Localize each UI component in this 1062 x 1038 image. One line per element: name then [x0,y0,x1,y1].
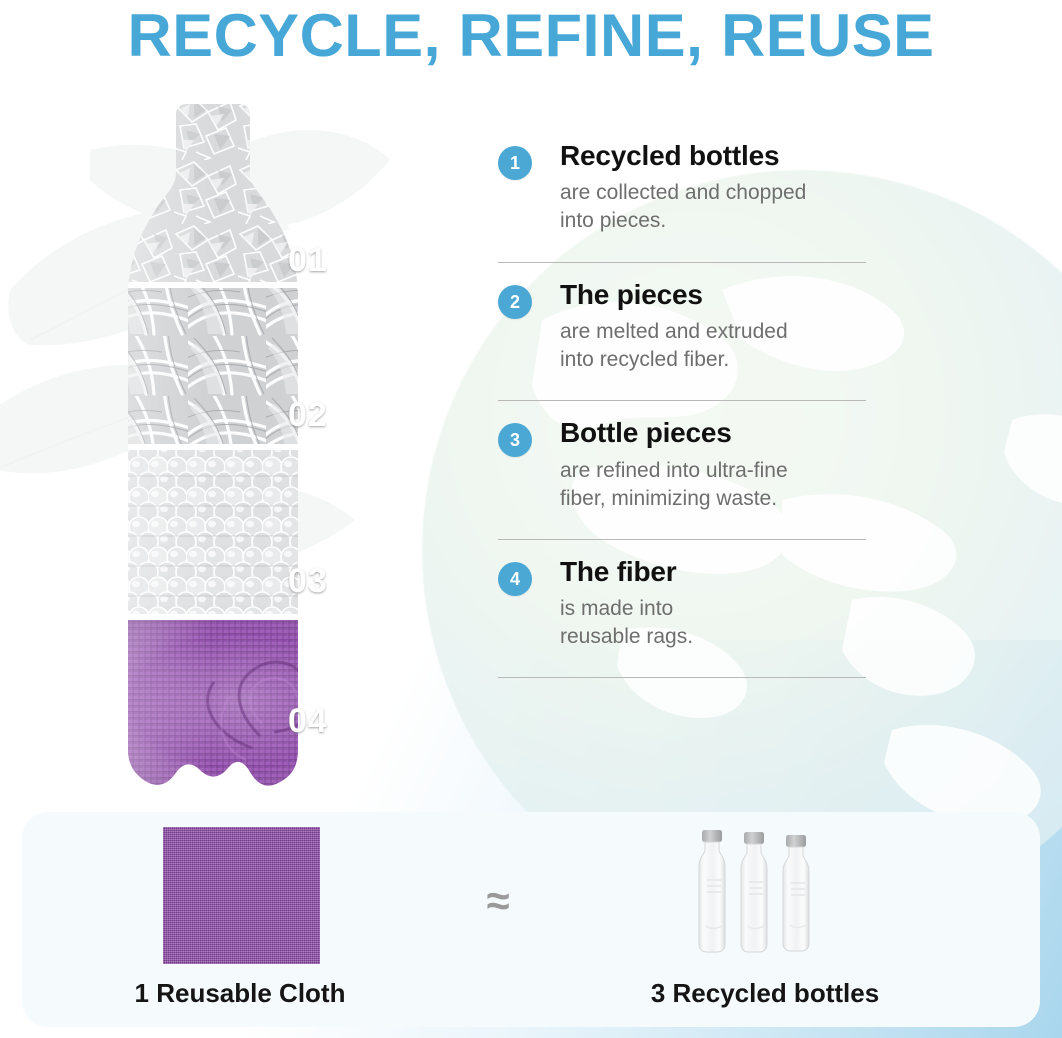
step-item-1: 1 Recycled bottles are collected and cho… [498,140,928,244]
step-divider-2 [498,400,866,401]
step-title-2: The pieces [560,279,928,310]
bottle-band-label-01: 01 [288,241,328,280]
equivalence-left-label: 1 Reusable Cloth [30,978,450,1009]
bottle-diagram: 01 02 03 04 [110,96,400,796]
step-item-4: 4 The fiber is made into reusable rags. [498,556,928,660]
page-title: RECYCLE, REFINE, REUSE [0,4,1062,67]
infographic-root: RECYCLE, REFINE, REUSE [0,0,1062,1038]
step-divider-3 [498,539,866,540]
steps-list: 1 Recycled bottles are collected and cho… [498,140,928,678]
step-item-3: 3 Bottle pieces are refined into ultra-f… [498,417,928,521]
step-body-3: are refined into ultra-fine fiber, minim… [560,457,928,513]
step-title-3: Bottle pieces [560,417,928,448]
step-badge-4: 4 [498,562,532,596]
step-divider-1 [498,262,866,263]
approx-equals-icon: ≈ [468,880,528,922]
step-item-2: 2 The pieces are melted and extruded int… [498,279,928,383]
step-title-1: Recycled bottles [560,140,928,171]
step-badge-1: 1 [498,146,532,180]
step-badge-3: 3 [498,423,532,457]
step-title-4: The fiber [560,556,928,587]
step-badge-2: 2 [498,285,532,319]
bottle-band-label-02: 02 [288,396,328,435]
bottle-band-label-03: 03 [288,562,328,601]
step-body-1: are collected and chopped into pieces. [560,179,928,235]
equivalence-right-label: 3 Recycled bottles [555,978,975,1009]
step-divider-4 [498,677,866,678]
cloth-swatch [163,827,320,964]
step-body-4: is made into reusable rags. [560,595,928,651]
step-body-2: are melted and extruded into recycled fi… [560,318,928,374]
recycled-bottles-illustration [690,826,840,966]
bottle-band-label-04: 04 [288,702,328,741]
